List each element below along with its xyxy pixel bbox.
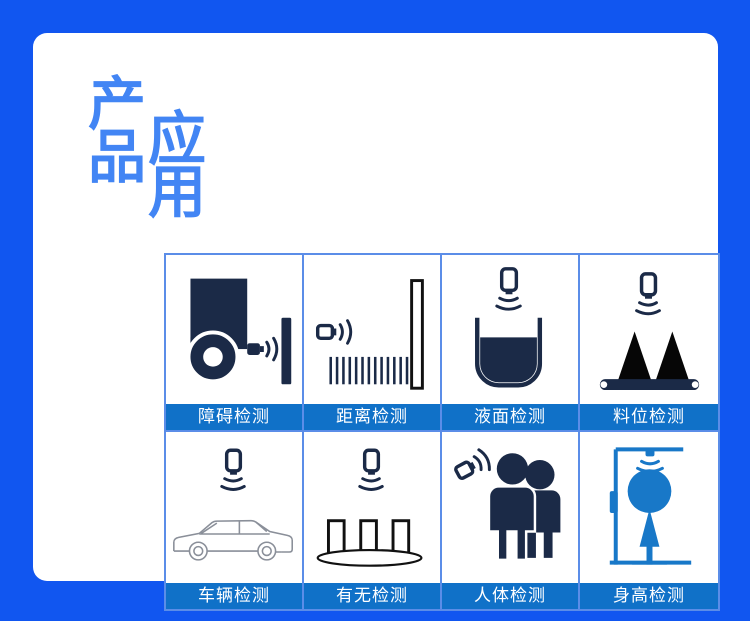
beaker-liquid-level-sensor-icon: [442, 255, 578, 404]
material-pile-level-sensor-icon: [580, 255, 718, 404]
boxes-presence-sensor-icon: [304, 432, 440, 583]
truck-obstacle-sensor-icon: [166, 255, 302, 404]
page-title-line-1: 产品: [88, 78, 150, 185]
grid-cell-presence[interactable]: 有无检测: [304, 432, 442, 609]
ruler-distance-sensor-icon: [304, 255, 440, 404]
page-title: 产品 应用: [88, 73, 348, 233]
grid-cell-label: 料位检测: [580, 404, 718, 430]
car-vehicle-sensor-icon: [166, 432, 302, 583]
grid-cell-material-level[interactable]: 料位检测: [580, 255, 718, 432]
grid-cell-label: 身高检测: [580, 583, 718, 609]
grid-cell-label: 障碍检测: [166, 404, 302, 430]
grid-cell-liquid-level[interactable]: 液面检测: [442, 255, 580, 432]
grid-cell-label: 有无检测: [304, 583, 440, 609]
grid-cell-vehicle[interactable]: 车辆检测: [166, 432, 304, 609]
page-title-line-2: 应用: [148, 113, 210, 220]
height-measure-person-icon: [580, 432, 718, 583]
grid-cell-label: 人体检测: [442, 583, 578, 609]
grid-cell-human-body[interactable]: 人体检测: [442, 432, 580, 609]
white-card: 产品 应用: [33, 33, 718, 581]
grid-cell-label: 车辆检测: [166, 583, 302, 609]
grid-cell-height[interactable]: 身高检测: [580, 432, 718, 609]
grid-cell-obstacle[interactable]: 障碍检测: [166, 255, 304, 432]
grid-cell-label: 液面检测: [442, 404, 578, 430]
grid-cell-distance[interactable]: 距离检测: [304, 255, 442, 432]
grid-cell-label: 距离检测: [304, 404, 440, 430]
poster-root: 产品 应用: [0, 0, 750, 621]
application-grid: 障碍检测: [164, 253, 720, 611]
two-people-sensor-icon: [442, 432, 578, 583]
